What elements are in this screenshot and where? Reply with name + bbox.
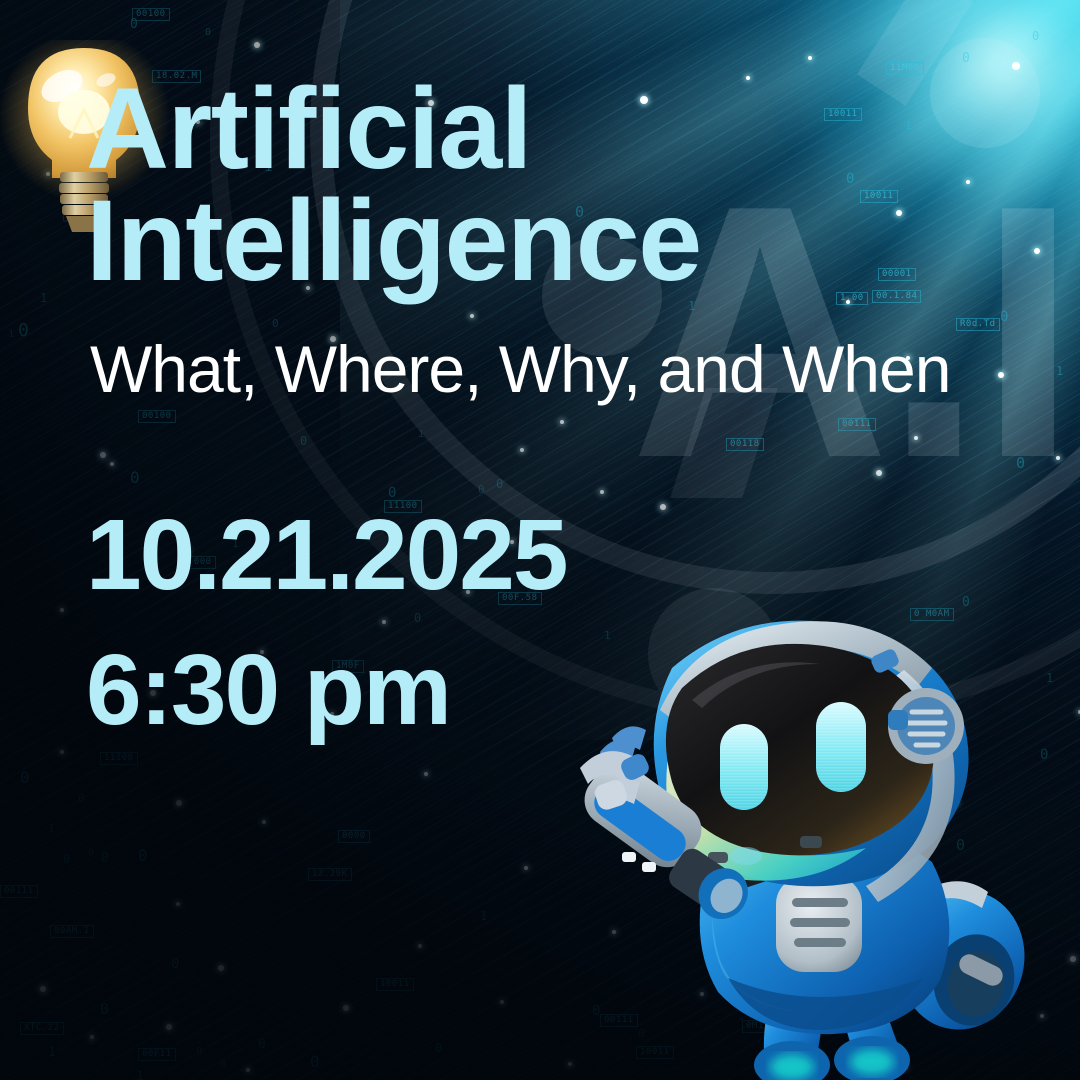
robot-illustration	[560, 560, 1080, 1080]
robot-svg	[560, 560, 1080, 1080]
ai-event-poster: A.I 000101010010001010001001000000010001…	[0, 0, 1080, 1080]
event-date: 10.21.2025	[86, 505, 567, 605]
event-time: 6:30 pm	[86, 640, 450, 740]
page-subtitle: What, Where, Why, and When	[90, 336, 950, 402]
page-title: Artificial Intelligence	[86, 74, 701, 297]
